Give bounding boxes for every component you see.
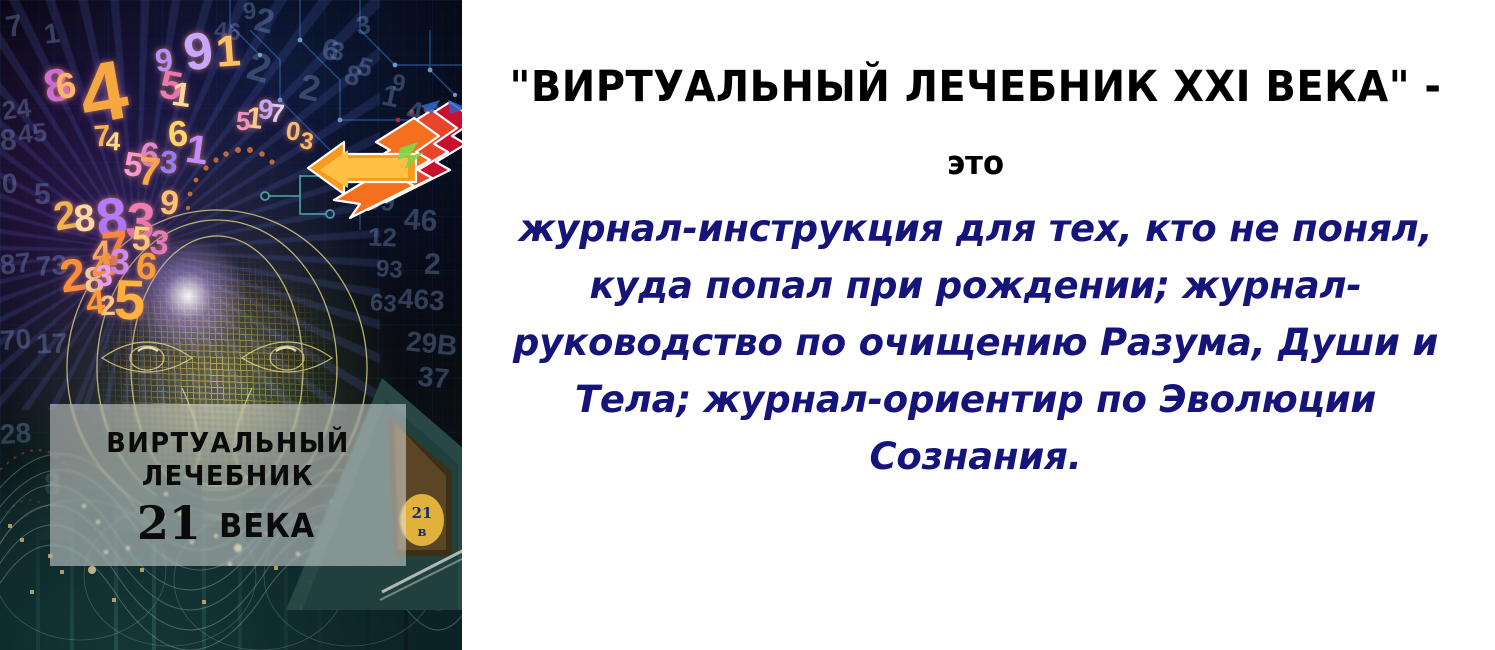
page-title: "ВИРТУАЛЬНЫЙ ЛЕЧЕБНИК XXI ВЕКА" - — [498, 66, 1453, 109]
description-line: журнал-инструкция для тех, кто не понял, — [470, 200, 1481, 257]
glow-core — [128, 236, 248, 356]
magazine-cover-image: 729226385914624458508773701728846246329В… — [0, 0, 462, 650]
promo-banner: 729226385914624458508773701728846246329В… — [0, 0, 1495, 650]
description-paragraph: журнал-инструкция для тех, кто не понял,… — [470, 200, 1481, 485]
text-panel: "ВИРТУАЛЬНЫЙ ЛЕЧЕБНИК XXI ВЕКА" - это жу… — [462, 0, 1495, 650]
page-title-connector: это — [498, 146, 1453, 179]
svg-text:в: в — [417, 525, 426, 540]
cover-title: ВИРТУАЛЬНЫЙ ЛЕЧЕБНИК — [64, 426, 392, 492]
cover-title-plate: ВИРТУАЛЬНЫЙ ЛЕЧЕБНИК 21ВЕКА — [50, 404, 406, 566]
description-line: руководство по очищению Разума, Души и — [470, 314, 1481, 371]
cover-century-number: 21 — [137, 496, 201, 550]
svg-text:21: 21 — [412, 504, 433, 522]
cover-century-word: ВЕКА — [219, 506, 315, 545]
description-line: Сознания. — [470, 428, 1481, 485]
description-line: куда попал при рождении; журнал- — [470, 257, 1481, 314]
arrows-cluster-icon — [300, 96, 462, 226]
cover-subtitle: 21ВЕКА — [50, 496, 406, 550]
description-line: Тела; журнал-ориентир по Эволюции — [470, 371, 1481, 428]
